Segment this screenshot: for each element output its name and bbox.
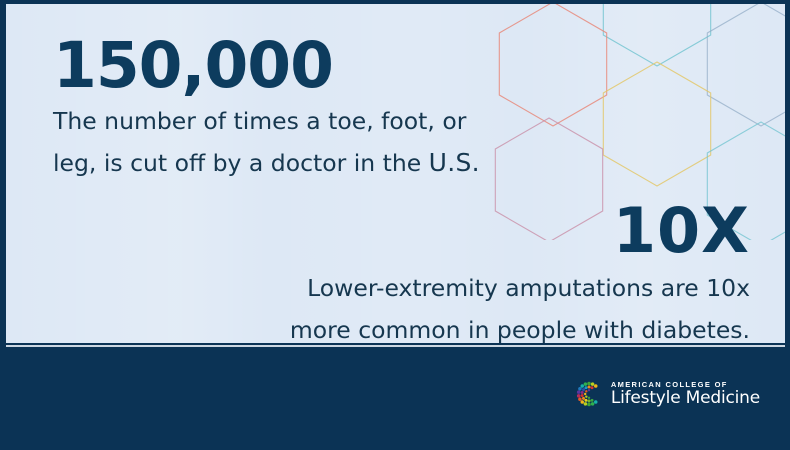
stat-value-10x: 10X [290, 200, 750, 262]
footer-bar: AMERICAN COLLEGE OF Lifestyle Medicine [0, 347, 790, 450]
content-panel: 150,000 The number of times a toe, foot,… [6, 4, 785, 343]
logo-line-lifestyle-medicine: Lifestyle Medicine [611, 390, 760, 407]
logo-dot [591, 382, 595, 386]
stat2-caption-line-1: Lower-extremity amputations are 10x [290, 273, 750, 304]
hexagon-outline-3 [603, 62, 710, 186]
logo-dot [580, 400, 584, 404]
stat-value-150000: 150,000 [53, 34, 480, 97]
stat2-caption-inline-10x: 10x [706, 274, 750, 302]
logo-dot [580, 384, 584, 388]
logo-dot [590, 399, 593, 402]
stat-caption-line-2-text: leg, is cut off by a doctor in the [53, 149, 429, 177]
logo-dot [582, 397, 585, 400]
logo-dot [581, 391, 584, 394]
logo-dot [584, 382, 588, 386]
logo-dot [578, 387, 582, 391]
logo-dot [587, 382, 591, 386]
logo-dot [581, 394, 584, 397]
stat-caption-us-abbreviation: U.S. [429, 148, 480, 177]
stat2-caption-line-1-text: Lower-extremity amputations are [307, 274, 706, 302]
stat-caption-line-2: leg, is cut off by a doctor in the U.S. [53, 146, 480, 179]
logo-dot [582, 388, 585, 391]
aclm-logo[interactable]: AMERICAN COLLEGE OF Lifestyle Medicine [575, 380, 760, 408]
logo-dot [585, 390, 587, 392]
logo-dot [584, 402, 588, 406]
logo-dot [590, 386, 593, 389]
logo-dot [588, 389, 590, 391]
logo-wordmark: AMERICAN COLLEGE OF Lifestyle Medicine [611, 381, 760, 408]
logo-dot [588, 397, 590, 399]
logo-dot [577, 394, 581, 398]
logo-dot [584, 386, 587, 389]
aclm-dot-circle-logo-icon [575, 380, 603, 408]
logo-dot [594, 400, 598, 404]
logo-dot [587, 386, 590, 389]
stat-caption-line-1: The number of times a toe, foot, or [53, 106, 480, 137]
footer-divider-rule [6, 345, 785, 347]
stat-block-amputations-count: 150,000 The number of times a toe, foot,… [53, 34, 480, 180]
stat-block-amputation-multiplier: 10X Lower-extremity amputations are 10x … [290, 200, 750, 343]
logo-dot [578, 398, 582, 402]
logo-dot [587, 400, 590, 403]
hexagon-outline-2 [499, 4, 606, 126]
logo-dot [585, 395, 587, 397]
logo-dot [594, 384, 598, 388]
infographic-card: 150,000 The number of times a toe, foot,… [0, 0, 790, 450]
logo-dot [587, 403, 591, 407]
stat2-caption-line-2: more common in people with diabetes. [290, 315, 750, 343]
logo-line-american-college-of: AMERICAN COLLEGE OF [611, 381, 760, 389]
hexagon-outline-1 [707, 4, 785, 126]
logo-dot [577, 390, 581, 394]
hexagon-outline-0 [603, 4, 710, 66]
logo-dot [584, 399, 587, 402]
logo-dot [584, 393, 586, 395]
logo-dot [591, 402, 595, 406]
